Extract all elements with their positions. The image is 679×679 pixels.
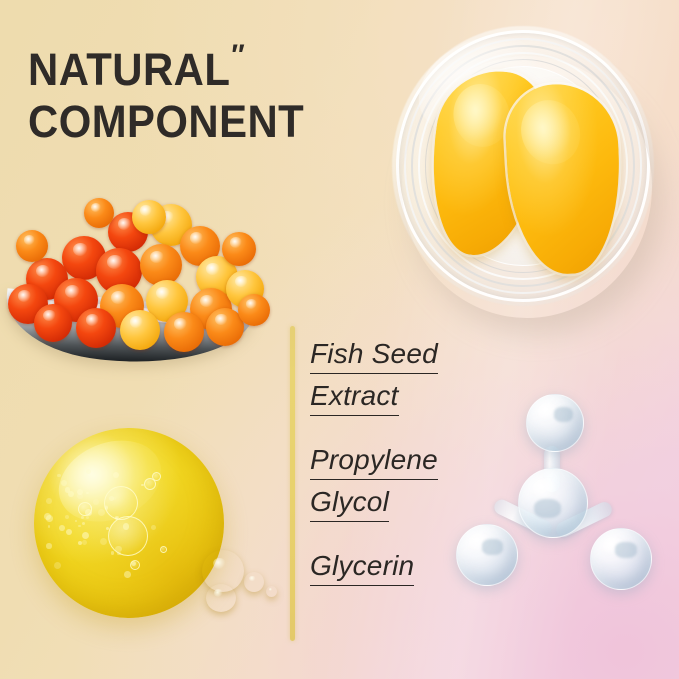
ingredient-line: Glycerin <box>310 548 414 586</box>
oil-micro-bubble <box>48 525 50 527</box>
molecule-atom-left <box>456 524 518 586</box>
ingredient-line: Fish Seed <box>310 336 438 374</box>
roe-pearl <box>34 304 72 342</box>
atom-facet <box>482 539 502 555</box>
oil-micro-bubble <box>66 529 72 535</box>
oil-droplet-image <box>30 424 280 639</box>
oil-micro-bubble <box>44 513 51 520</box>
oil-inner-bubble <box>104 486 138 520</box>
glass-dish-with-eye-patches <box>392 26 654 306</box>
molecule-atom-right <box>590 528 652 590</box>
oil-micro-bubble <box>90 506 92 508</box>
ingredient-line: Glycol <box>310 484 389 522</box>
atom-facet <box>615 542 637 558</box>
oil-satellite-droplet-3 <box>244 572 264 592</box>
oil-satellite-droplet-2 <box>206 584 236 612</box>
oil-micro-bubble <box>82 532 89 539</box>
oil-micro-bubble <box>113 497 116 500</box>
oil-micro-bubble <box>151 525 156 530</box>
oil-micro-bubble <box>131 561 136 566</box>
molecule-atom-center <box>518 468 588 538</box>
oil-micro-bubble <box>78 541 83 546</box>
atom-facet <box>554 407 573 422</box>
double-prime-mark: ″ <box>231 39 243 72</box>
oil-micro-bubble <box>86 492 89 495</box>
oil-micro-bubble <box>111 551 115 555</box>
vertical-gold-divider <box>290 326 295 641</box>
oil-micro-bubble <box>75 520 77 522</box>
roe-pearl <box>120 310 160 350</box>
oil-inner-bubble <box>108 516 148 556</box>
oil-micro-bubble <box>105 506 108 509</box>
oil-micro-bubble <box>100 538 107 545</box>
roe-pearl <box>84 198 114 228</box>
oil-micro-bubble <box>46 498 52 504</box>
oil-micro-bubble <box>59 525 65 531</box>
oil-micro-bubble <box>82 522 85 525</box>
eye-patch-right-gloss <box>512 92 590 173</box>
roe-pearl <box>164 312 204 352</box>
oil-micro-bubble <box>54 562 61 569</box>
oil-droplet-main <box>34 428 224 618</box>
roe-pearl <box>238 294 270 326</box>
roe-pearl <box>222 232 256 266</box>
page-title-word-natural: NATURAL <box>28 44 230 95</box>
oil-micro-bubble <box>141 484 143 486</box>
page-title: NATURAL″ COMPONENT <box>28 34 381 148</box>
oil-inner-bubble <box>160 546 167 553</box>
roe-pearl <box>132 200 166 234</box>
roe-pearl <box>76 308 116 348</box>
molecule-atom-top <box>526 394 584 452</box>
atom-specular <box>533 479 557 499</box>
oil-satellite-droplet-4 <box>266 586 277 597</box>
oil-micro-bubble <box>78 525 80 527</box>
ingredient-line: Propylene <box>310 442 438 480</box>
oil-micro-bubble <box>93 499 99 505</box>
oil-micro-bubble <box>65 515 69 519</box>
ingredient-line: Extract <box>310 378 399 416</box>
roe-pearl <box>16 230 48 262</box>
oil-micro-bubble <box>85 509 92 516</box>
caviar-spoon-image <box>0 196 292 381</box>
oil-micro-bubble <box>82 540 87 545</box>
oil-inner-bubble <box>152 472 161 481</box>
oil-micro-bubble <box>124 571 131 578</box>
atom-facet <box>534 499 561 518</box>
page-title-line-2: COMPONENT <box>28 96 381 148</box>
oil-micro-bubble <box>57 474 60 477</box>
oil-micro-bubble <box>46 543 52 549</box>
crystal-molecule-image <box>444 388 660 604</box>
page-title-line-1: NATURAL″ <box>28 34 381 96</box>
